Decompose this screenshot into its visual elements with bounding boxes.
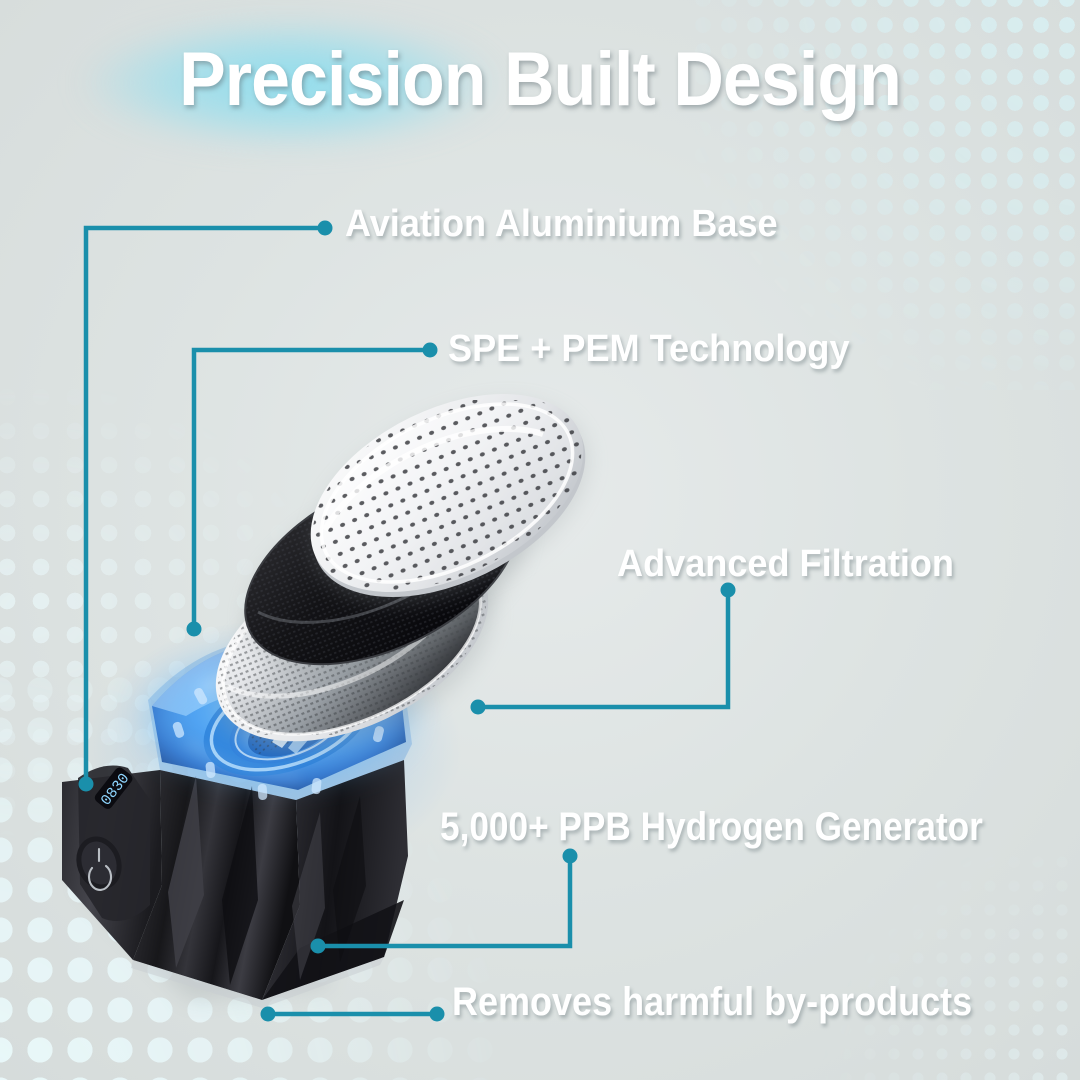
connector-filtration xyxy=(478,590,728,707)
callout-label-spe-pem-technology: SPE + PEM Technology xyxy=(448,328,850,371)
callout-connectors xyxy=(0,0,1080,1080)
callout-label-hydrogen-generator: 5,000+ PPB Hydrogen Generator xyxy=(440,805,983,850)
connector-hydrogen xyxy=(318,856,570,946)
connector-spe xyxy=(194,350,430,629)
connector-aviation xyxy=(86,228,325,784)
infographic-canvas: Precision Built Design xyxy=(0,0,1080,1080)
callout-label-aviation-aluminium-base: Aviation Aluminium Base xyxy=(345,203,778,246)
callout-label-removes-byproducts: Removes harmful by-products xyxy=(452,980,972,1025)
callout-label-advanced-filtration: Advanced Filtration xyxy=(617,543,954,586)
